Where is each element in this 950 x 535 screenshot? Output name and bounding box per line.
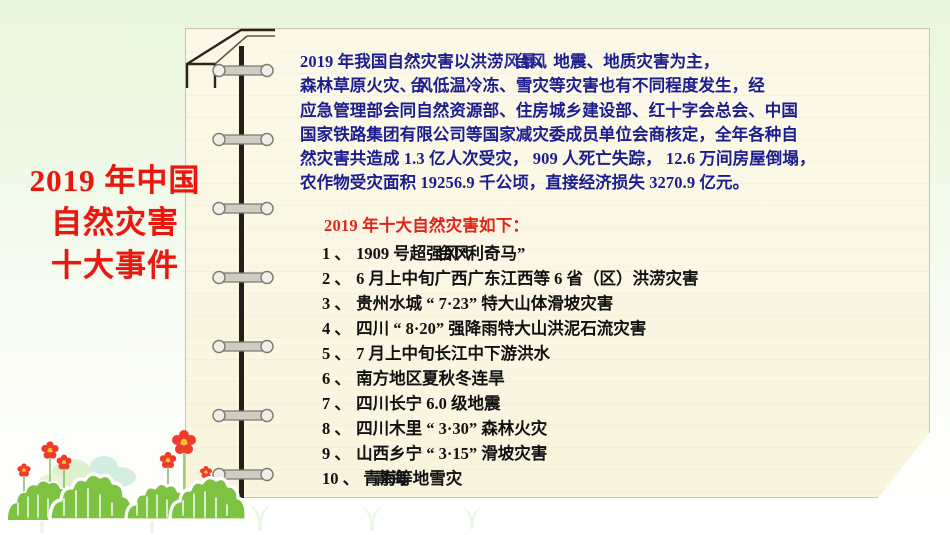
spiral-binding — [209, 46, 283, 498]
title-line-1: 2019 年中国 — [6, 160, 224, 202]
overlapped-glyphs: 、台 — [400, 74, 417, 98]
list-item: 6 、 南方地区夏秋冬连旱 — [322, 366, 925, 391]
intro-paragraph: 2019 年我国自然灾害以洪涝风暴台风、地震、地质灾害为主， 森林草原火灾、台风… — [300, 50, 925, 196]
list-item: 4 、 四川 “ 8·20” 强降雨特大山洪泥石流灾害 — [322, 316, 925, 341]
intro-line-2: 森林草原火灾、台风低温冷冻、雪灾等灾害也有不同程度发生，经 — [300, 74, 925, 98]
list-item: 10 、 青海青海等地雪灾 — [322, 466, 925, 491]
intro-line-6: 农作物受灾面积 19256.9 千公顷，直接经济损失 3270.9 亿元。 — [300, 171, 925, 195]
title-line-2: 自然灾害 — [6, 202, 224, 244]
bush-icon — [126, 483, 194, 520]
intro-line-1: 2019 年我国自然灾害以洪涝风暴台风、地震、地质灾害为主， — [300, 50, 925, 74]
title-line-3: 十大事件 — [6, 245, 224, 287]
bush-icon — [8, 481, 77, 520]
list-item: 8 、 四川木里 “ 3·30” 森林火灾 — [322, 416, 925, 441]
flower-icon — [24, 443, 206, 497]
content-area: 2019 年我国自然灾害以洪涝风暴台风、地震、地质灾害为主， 森林草原火灾、台风… — [300, 50, 925, 491]
list-item: 2 、 6 月上中旬广西广东江西等 6 省（区）洪涝灾害 — [322, 266, 925, 291]
list-item: 5 、 7 月上中旬长江中下游洪水 — [322, 341, 925, 366]
overlapped-glyphs: 青海青海 — [363, 466, 396, 491]
list-item: 7 、 四川长宁 6.0 级地震 — [322, 391, 925, 416]
list-item: 9 、 山西乡宁 “ 3·15” 滑坡灾害 — [322, 441, 925, 466]
intro-line-3: 应急管理部会同自然资源部、住房城乡建设部、红十字会总会、中国 — [300, 99, 925, 123]
overlapped-glyphs: 强风台风 — [426, 241, 459, 266]
list-item: 3 、 贵州水城 “ 7·23” 特大山体滑坡灾害 — [322, 291, 925, 316]
disaster-list: 1 、 1909 号超强风台风“利奇马” 2 、 6 月上中旬广西广东江西等 6… — [322, 241, 925, 492]
bush-icon — [50, 474, 133, 520]
intro-line-5: 然灾害共造成 1.3 亿人次受灾， 909 人死亡失踪， 12.6 万间房屋倒塌… — [300, 147, 925, 171]
page-title: 2019 年中国 自然灾害 十大事件 — [6, 160, 224, 287]
list-item: 1 、 1909 号超强风台风“利奇马” — [322, 241, 925, 266]
list-heading: 2019 年十大自然灾害如下： — [324, 212, 925, 236]
intro-line-4: 国家铁路集团有限公司等国家减灾委成员单位会商核定，全年各种自 — [300, 123, 925, 147]
overlapped-glyphs: 风暴台风 — [504, 50, 537, 74]
flower-icon — [17, 430, 212, 478]
